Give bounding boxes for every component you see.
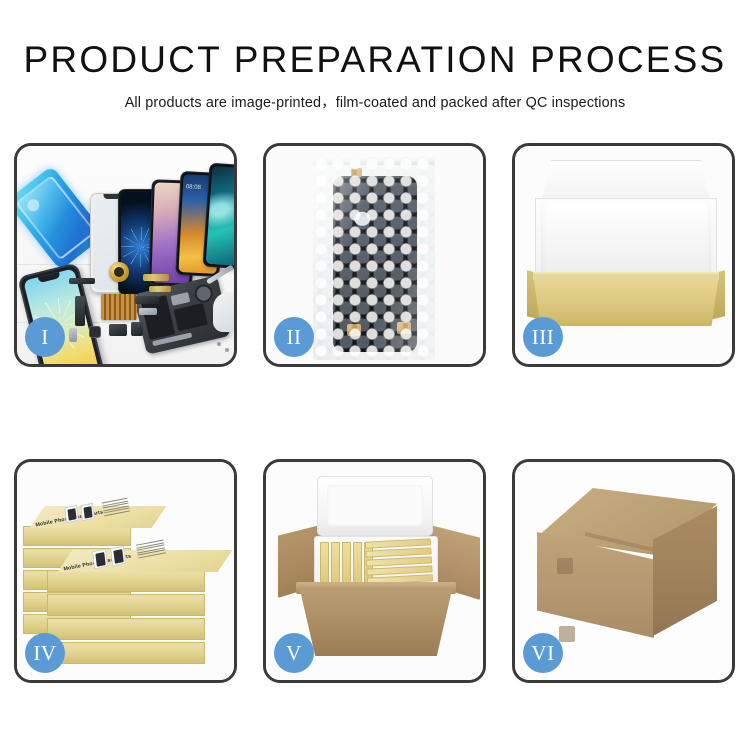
- small-part: [109, 324, 127, 336]
- chip-array-part: [101, 294, 137, 320]
- small-part: [135, 296, 159, 304]
- step-badge-6: VI: [523, 633, 563, 673]
- page-root: PRODUCT PREPARATION PROCESS All products…: [0, 0, 750, 750]
- carton-tape-patch: [557, 558, 573, 574]
- carton-front-face: [300, 590, 452, 656]
- box-window-print: [64, 505, 79, 523]
- foam-box-lid: [317, 476, 433, 536]
- flex-cable-part: [149, 286, 171, 292]
- flex-cable-part: [143, 274, 169, 281]
- flex-cable-part: [75, 296, 85, 326]
- stacked-box: [23, 526, 131, 546]
- stacked-box: [47, 570, 205, 592]
- step-panel-4[interactable]: Mobile Phone Spare Parts Mobile Phone Sp…: [14, 459, 237, 683]
- step-panel-3[interactable]: III: [512, 143, 735, 367]
- box-window-print: [110, 546, 126, 567]
- screw-part: [225, 348, 229, 352]
- plastic-sheen: [313, 156, 435, 360]
- stacked-box: [47, 618, 205, 640]
- small-part: [69, 278, 95, 284]
- box-window-print: [80, 503, 95, 521]
- gloved-hand: [213, 292, 234, 332]
- small-part: [69, 328, 77, 342]
- step-panel-2[interactable]: II: [263, 143, 486, 367]
- step-badge-4: IV: [25, 633, 65, 673]
- step-panel-5[interactable]: V: [263, 459, 486, 683]
- box-window-print: [92, 549, 108, 570]
- screw-part: [217, 342, 221, 346]
- small-part: [131, 322, 143, 336]
- process-grid: 08:08: [14, 143, 736, 683]
- step-badge-1: I: [25, 317, 65, 357]
- small-part: [139, 308, 157, 315]
- bubble-bag: [313, 156, 435, 360]
- stacked-box: [47, 594, 205, 616]
- page-subtitle: All products are image-printed，film-coat…: [0, 91, 750, 112]
- header: PRODUCT PREPARATION PROCESS All products…: [0, 38, 750, 112]
- step-panel-1[interactable]: 08:08: [14, 143, 237, 367]
- kraft-box-front: [533, 274, 719, 326]
- step-badge-2: II: [274, 317, 314, 357]
- yellow-boxes-stack: [365, 538, 433, 587]
- speaker-part: [109, 262, 129, 282]
- page-title: PRODUCT PREPARATION PROCESS: [0, 38, 750, 82]
- stacked-box: [47, 642, 205, 664]
- camera-module-part: [89, 326, 101, 338]
- step-panel-6[interactable]: VI: [512, 459, 735, 683]
- carton-tape-patch: [559, 626, 575, 642]
- step-badge-5: V: [274, 633, 314, 673]
- phone-clock-label: 08:08: [186, 184, 201, 191]
- step-badge-3: III: [523, 317, 563, 357]
